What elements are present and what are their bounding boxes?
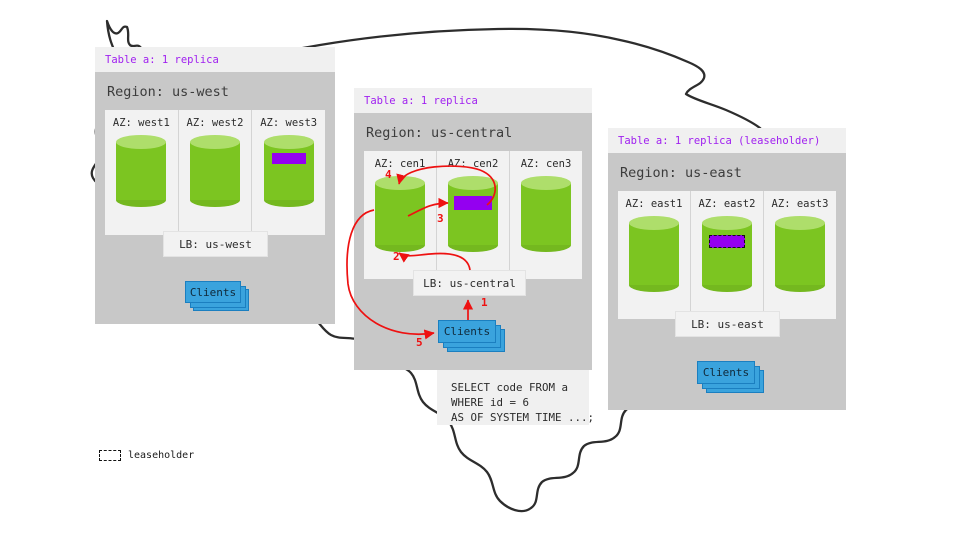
az-label: AZ: east1 [626, 198, 683, 210]
region-replica-header: Table a: 1 replica [95, 47, 335, 72]
az-strip: AZ: east1 AZ: east2 AZ: east3 [618, 191, 836, 319]
node-cylinder[interactable] [190, 135, 240, 207]
lb-label: LB: us-west [179, 238, 252, 251]
replica-marker-leaseholder[interactable] [709, 235, 745, 248]
arrow-number-2: 2 [393, 250, 400, 263]
arrow-number-5: 5 [416, 336, 423, 349]
az-strip: AZ: west1 AZ: west2 AZ: west3 [105, 110, 325, 235]
node-cylinder[interactable] [116, 135, 166, 207]
az-label: AZ: cen3 [521, 158, 572, 170]
lb-us-central[interactable]: LB: us-central [413, 270, 526, 296]
az-label: AZ: cen1 [375, 158, 426, 170]
az-west2[interactable]: AZ: west2 [179, 110, 253, 235]
diagram-canvas: Table a: 1 replica Region: us-west AZ: w… [0, 0, 960, 540]
clients-label: Clients [190, 286, 236, 299]
arrow-number-4: 4 [385, 168, 392, 181]
lb-us-east[interactable]: LB: us-east [675, 311, 780, 337]
node-cylinder[interactable] [629, 216, 679, 292]
region-title: Region: us-east [608, 153, 846, 191]
region-title: Region: us-west [95, 72, 335, 110]
az-label: AZ: cen2 [448, 158, 499, 170]
clients-us-east[interactable]: Clients [697, 361, 769, 393]
sql-query-note: SELECT code FROM a WHERE id = 6 AS OF SY… [437, 370, 589, 425]
node-cylinder[interactable] [775, 216, 825, 292]
legend-label: leaseholder [128, 450, 194, 461]
az-west3[interactable]: AZ: west3 [252, 110, 325, 235]
az-east3[interactable]: AZ: east3 [764, 191, 836, 319]
az-cen2[interactable]: AZ: cen2 [437, 151, 510, 279]
clients-us-central[interactable]: Clients [438, 320, 510, 352]
az-cen1[interactable]: AZ: cen1 [364, 151, 437, 279]
arrow-number-3: 3 [437, 212, 444, 225]
az-label: AZ: west3 [260, 117, 317, 129]
leaseholder-swatch-icon [99, 450, 121, 461]
region-replica-header: Table a: 1 replica [354, 88, 592, 113]
clients-label: Clients [703, 366, 749, 379]
lb-us-west[interactable]: LB: us-west [163, 231, 268, 257]
legend: leaseholder [99, 450, 194, 461]
node-cylinder[interactable] [521, 176, 571, 252]
replica-marker[interactable] [272, 153, 306, 164]
az-cen3[interactable]: AZ: cen3 [510, 151, 582, 279]
node-cylinder[interactable] [375, 176, 425, 252]
node-cylinder[interactable] [702, 216, 752, 292]
replica-marker[interactable] [454, 196, 492, 210]
region-title: Region: us-central [354, 113, 592, 151]
lb-label: LB: us-central [423, 277, 516, 290]
az-label: AZ: east3 [772, 198, 829, 210]
node-cylinder[interactable] [448, 176, 498, 252]
az-label: AZ: west1 [113, 117, 170, 129]
az-label: AZ: west2 [187, 117, 244, 129]
arrow-number-1: 1 [481, 296, 488, 309]
lb-label: LB: us-east [691, 318, 764, 331]
az-east2[interactable]: AZ: east2 [691, 191, 764, 319]
az-east1[interactable]: AZ: east1 [618, 191, 691, 319]
clients-us-west[interactable]: Clients [185, 281, 255, 311]
az-label: AZ: east2 [699, 198, 756, 210]
node-cylinder[interactable] [264, 135, 314, 207]
clients-label: Clients [444, 325, 490, 338]
az-west1[interactable]: AZ: west1 [105, 110, 179, 235]
region-replica-header: Table a: 1 replica (leaseholder) [608, 128, 846, 153]
